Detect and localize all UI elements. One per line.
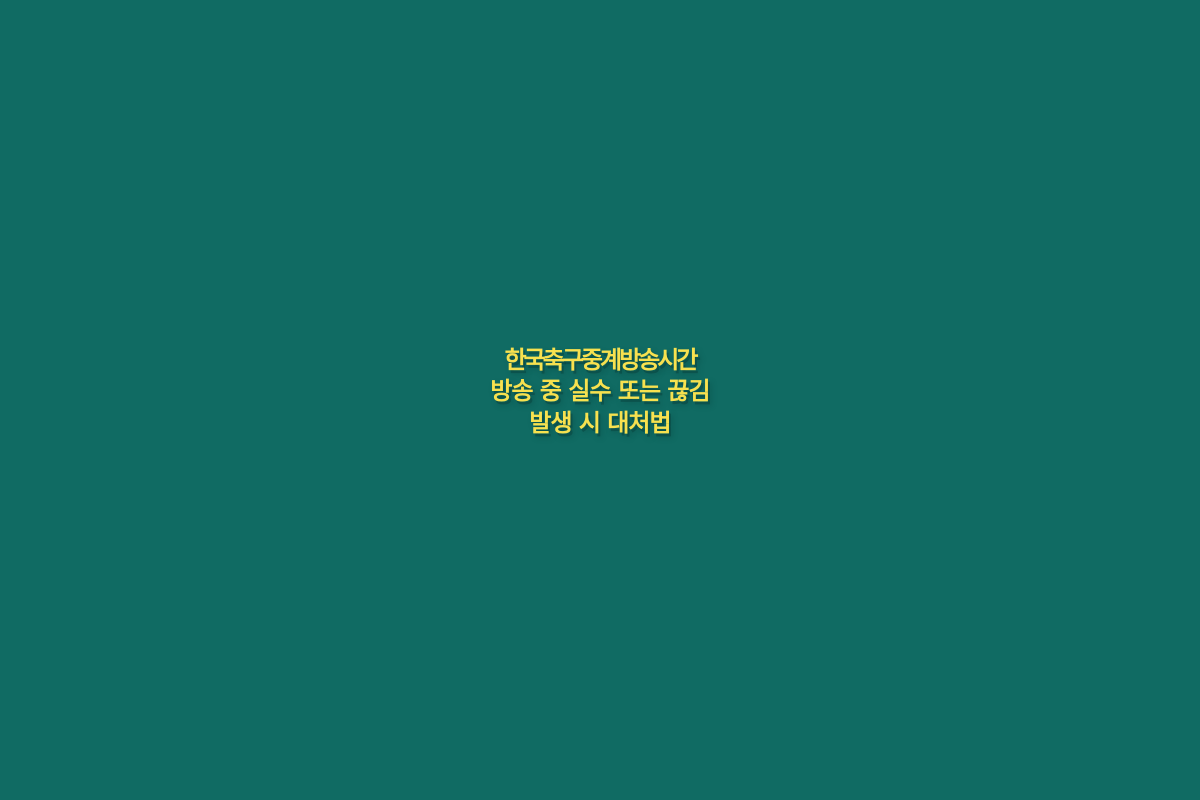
banner-canvas: 한국축구중계방송시간 방송 중 실수 또는 끊김 발생 시 대처법 — [0, 0, 1200, 800]
headline-block: 한국축구중계방송시간 방송 중 실수 또는 끊김 발생 시 대처법 — [0, 345, 1200, 439]
headline-line-3: 발생 시 대처법 — [0, 408, 1200, 439]
headline-line-1: 한국축구중계방송시간 — [0, 345, 1200, 376]
headline-line-2: 방송 중 실수 또는 끊김 — [0, 376, 1200, 407]
